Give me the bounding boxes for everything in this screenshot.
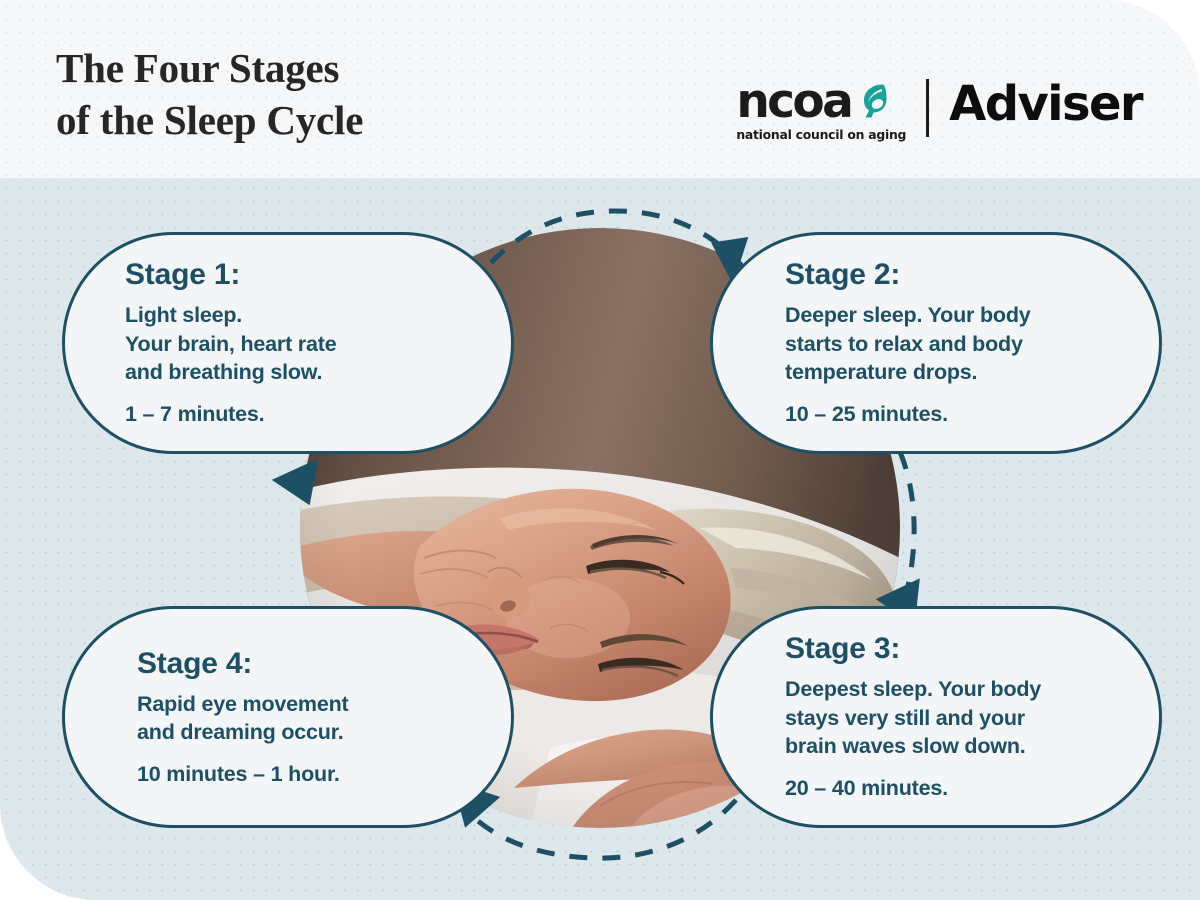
- stage-card-description: Deepest sleep. Your body stays very stil…: [785, 675, 1119, 761]
- stage-card-duration: 10 – 25 minutes.: [785, 402, 1119, 428]
- stage-card-duration: 1 – 7 minutes.: [125, 402, 471, 428]
- stage-card-title: Stage 3:: [785, 632, 1119, 665]
- stage-card-title: Stage 2:: [785, 258, 1119, 291]
- vertical-divider-icon: [926, 79, 929, 137]
- header-band: The Four Stages of the Sleep Cycle ncoa: [0, 0, 1200, 178]
- stage-card-duration: 20 – 40 minutes.: [785, 776, 1119, 802]
- stage-card-description: Deeper sleep. Your body starts to relax …: [785, 301, 1119, 387]
- ncoa-logo: ncoa national council on aging: [736, 78, 906, 142]
- stage-card-stage1[interactable]: Stage 1: Light sleep. Your brain, heart …: [62, 232, 514, 454]
- stage-card-title: Stage 4:: [137, 647, 471, 680]
- adviser-wordmark: Adviser: [949, 80, 1142, 128]
- stage-card-stage4[interactable]: Stage 4: Rapid eye movement and dreaming…: [62, 606, 514, 828]
- ncoa-brand-text: ncoa: [736, 82, 851, 121]
- stage-card-stage2[interactable]: Stage 2: Deeper sleep. Your body starts …: [710, 232, 1162, 454]
- stage-card-title: Stage 1:: [125, 258, 471, 291]
- ncoa-wordmark: ncoa: [736, 80, 906, 121]
- stage-card-description: Rapid eye movement and dreaming occur.: [137, 690, 471, 747]
- stage-card-description: Light sleep. Your brain, heart rate and …: [125, 301, 471, 387]
- infographic-canvas: The Four Stages of the Sleep Cycle ncoa: [0, 0, 1200, 900]
- ncoa-adviser-logo: ncoa national council on aging Adviser: [736, 78, 1142, 142]
- page-title: The Four Stages of the Sleep Cycle: [56, 42, 363, 147]
- ncoa-leaf-mark-icon: [852, 80, 888, 120]
- infographic-plate: The Four Stages of the Sleep Cycle ncoa: [0, 0, 1200, 900]
- stage-card-duration: 10 minutes – 1 hour.: [137, 762, 471, 788]
- arrow-stage2-to-stage3-path: [900, 452, 914, 586]
- stage-card-stage3[interactable]: Stage 3: Deepest sleep. Your body stays …: [710, 606, 1162, 828]
- ncoa-tagline: national council on aging: [736, 127, 906, 142]
